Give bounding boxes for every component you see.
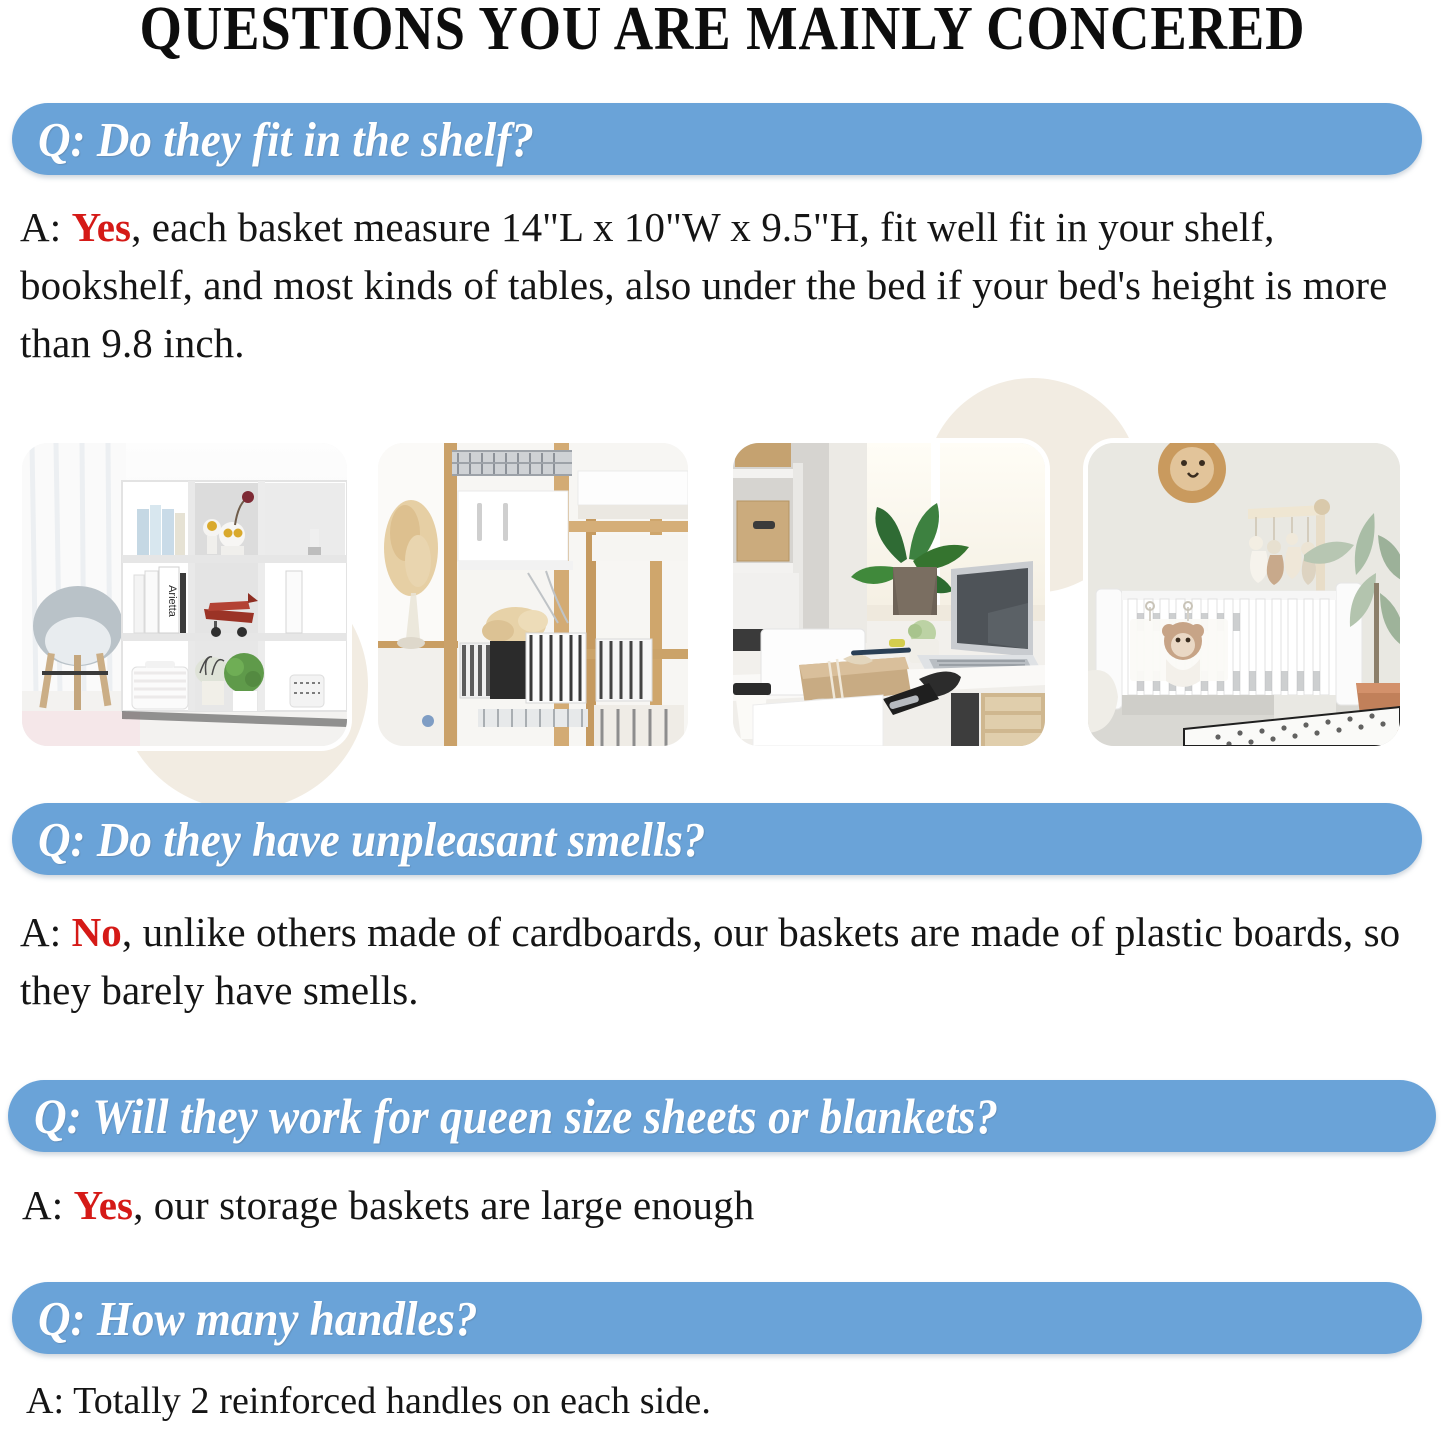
answer-prefix-4: A: Totally 2 reinforced handles on each …	[26, 1380, 711, 1422]
answer-highlight-2: No	[72, 909, 122, 955]
question-text-2: Q: Do they have unpleasant smells?	[38, 811, 705, 868]
photo-wooden-shelf-unit-baskets	[378, 443, 688, 746]
answer-prefix-3: A:	[22, 1182, 74, 1228]
photo-home-office-desk-laptop	[733, 443, 1045, 746]
answer-body-1: , each basket measure 14"L x 10"W x 9.5"…	[20, 204, 1387, 366]
question-banner-1: Q: Do they fit in the shelf?	[12, 103, 1422, 175]
question-text-1: Q: Do they fit in the shelf?	[38, 111, 534, 168]
question-banner-3: Q: Will they work for queen size sheets …	[8, 1080, 1436, 1152]
photo-gallery: Arietta	[0, 443, 1445, 748]
answer-prefix-1: A:	[20, 204, 72, 250]
answer-text-4: A: Totally 2 reinforced handles on each …	[26, 1372, 1426, 1430]
answer-highlight-1: Yes	[72, 204, 132, 250]
svg-text:Arietta: Arietta	[166, 585, 178, 618]
answer-highlight-3: Yes	[74, 1182, 134, 1228]
question-banner-2: Q: Do they have unpleasant smells?	[12, 803, 1422, 875]
photo-nursery-white-crib	[1088, 443, 1400, 746]
answer-text-1: A: Yes, each basket measure 14"L x 10"W …	[20, 198, 1445, 372]
question-banner-4: Q: How many handles?	[12, 1282, 1422, 1354]
page-title: QUESTIONS YOU ARE MAINLY CONCERED	[87, 0, 1359, 65]
answer-body-3: , our storage baskets are large enough	[133, 1182, 754, 1228]
answer-text-3: A: Yes, our storage baskets are large en…	[22, 1176, 1422, 1234]
answer-text-2: A: No, unlike others made of cardboards,…	[20, 903, 1420, 1019]
photo-white-cube-bookshelf-living-room: Arietta	[22, 443, 347, 746]
answer-prefix-2: A:	[20, 909, 72, 955]
question-text-4: Q: How many handles?	[38, 1290, 478, 1347]
question-text-3: Q: Will they work for queen size sheets …	[34, 1087, 998, 1145]
answer-body-2: , unlike others made of cardboards, our …	[20, 909, 1400, 1013]
